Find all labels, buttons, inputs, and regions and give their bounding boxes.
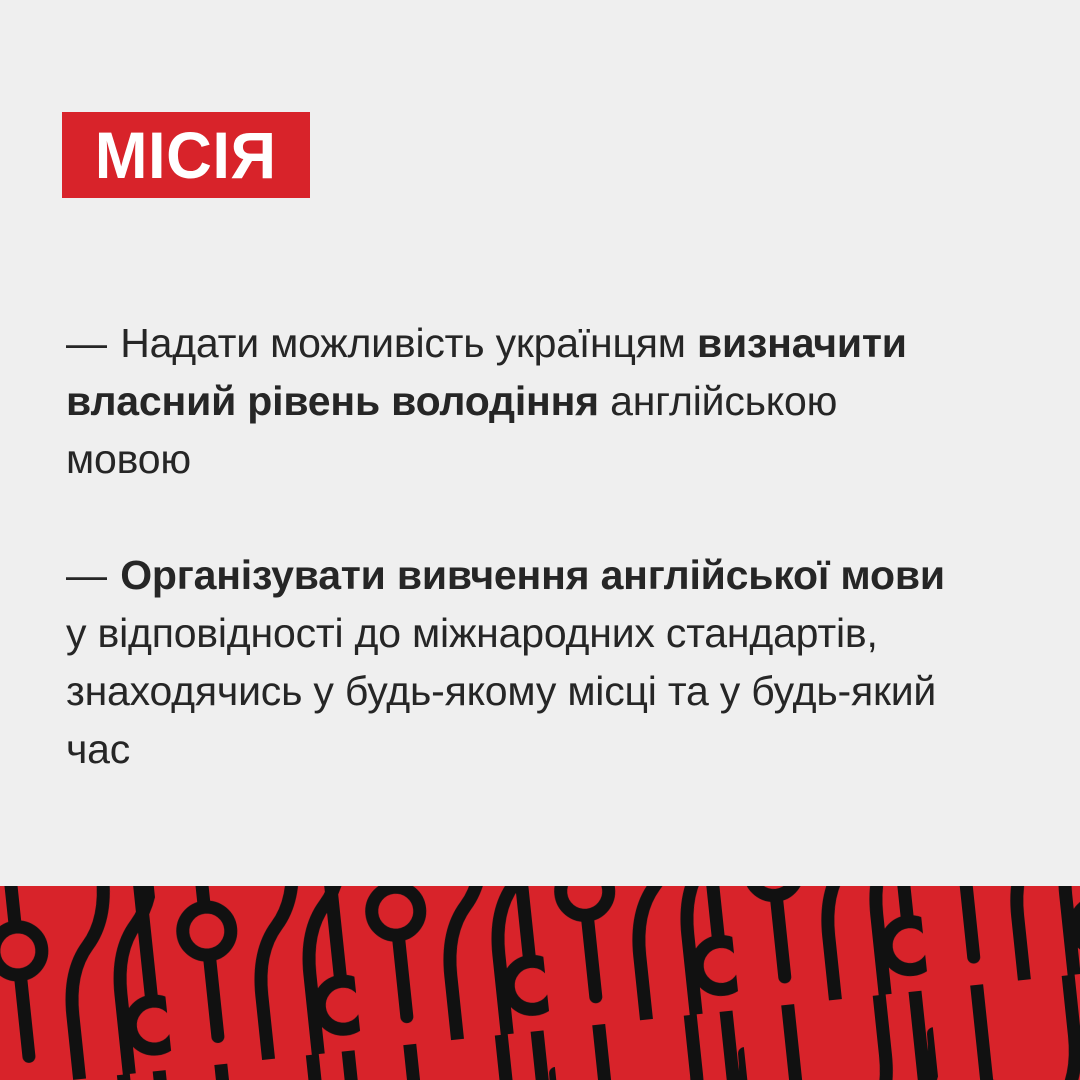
statement-2-part-3: у відповідності до міжнародних стандарті…: [66, 610, 936, 772]
mission-poster: МІСІЯ — Надати можливість українцям визн…: [0, 0, 1080, 1080]
lollipop-line-pattern-graphic: [0, 886, 1080, 1080]
bullet-dash-icon: —: [66, 320, 109, 366]
statement-2-part-2: Організувати вивчення англійської мови: [120, 552, 945, 598]
pattern-strokes: [0, 886, 1080, 1080]
mission-statement-2: — Організувати вивчення англійської мови…: [66, 546, 966, 778]
mission-statement-1: — Надати можливість українцям визначити …: [66, 314, 966, 488]
mission-statements: — Надати можливість українцям визначити …: [66, 314, 966, 778]
bullet-dash-icon: —: [66, 552, 109, 598]
statement-1-part-1: Надати можливість українцям: [109, 320, 697, 366]
statement-2-part-1: [109, 552, 120, 598]
section-title-badge: МІСІЯ: [62, 112, 310, 198]
decorative-pattern-band: [0, 886, 1080, 1080]
section-title-label: МІСІЯ: [95, 122, 277, 188]
